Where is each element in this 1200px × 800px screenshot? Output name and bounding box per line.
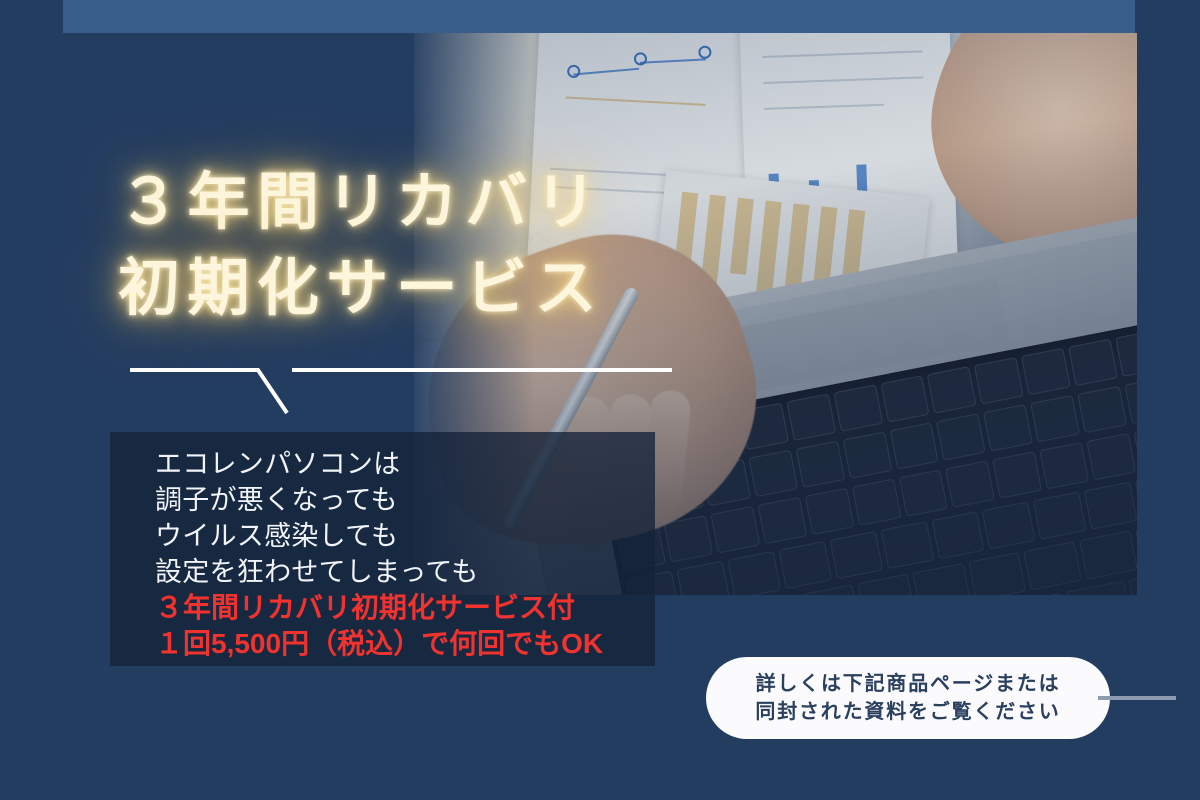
info-line-highlight: ３年間リカバリ初期化サービス付 xyxy=(155,590,603,626)
callout-line-2: 同封された資料をご覧ください xyxy=(755,698,1060,726)
callout-bubble: 詳しくは下記商品ページまたは 同封された資料をご覧ください xyxy=(706,657,1110,739)
info-line: 調子が悪くなっても xyxy=(155,482,603,518)
top-accent-band xyxy=(63,0,1135,33)
info-line: ウイルス感染しても xyxy=(155,518,603,554)
info-line: エコレンパソコンは xyxy=(155,446,603,482)
promo-banner: ３年間リカバリ 初期化サービス エコレンパソコンは 調子が悪くなっても ウイルス… xyxy=(0,0,1200,800)
callout-line-1: 詳しくは下記商品ページまたは xyxy=(756,670,1061,698)
headline-line-1: ３年間リカバリ xyxy=(118,160,878,246)
info-panel: エコレンパソコンは 調子が悪くなっても ウイルス感染しても 設定を狂わせてしまっ… xyxy=(110,432,655,666)
info-line: 設定を狂わせてしまっても xyxy=(155,554,603,590)
headline: ３年間リカバリ 初期化サービス xyxy=(118,160,878,332)
info-line-highlight: １回5,500円（税込）で何回でもOK xyxy=(155,626,603,662)
info-panel-lines: エコレンパソコンは 調子が悪くなっても ウイルス感染しても 設定を狂わせてしまっ… xyxy=(155,446,603,662)
callout-bubble-tail xyxy=(1098,696,1176,700)
headline-line-2: 初期化サービス xyxy=(118,246,878,332)
decorative-rule xyxy=(120,352,700,422)
rule-svg xyxy=(120,352,700,422)
